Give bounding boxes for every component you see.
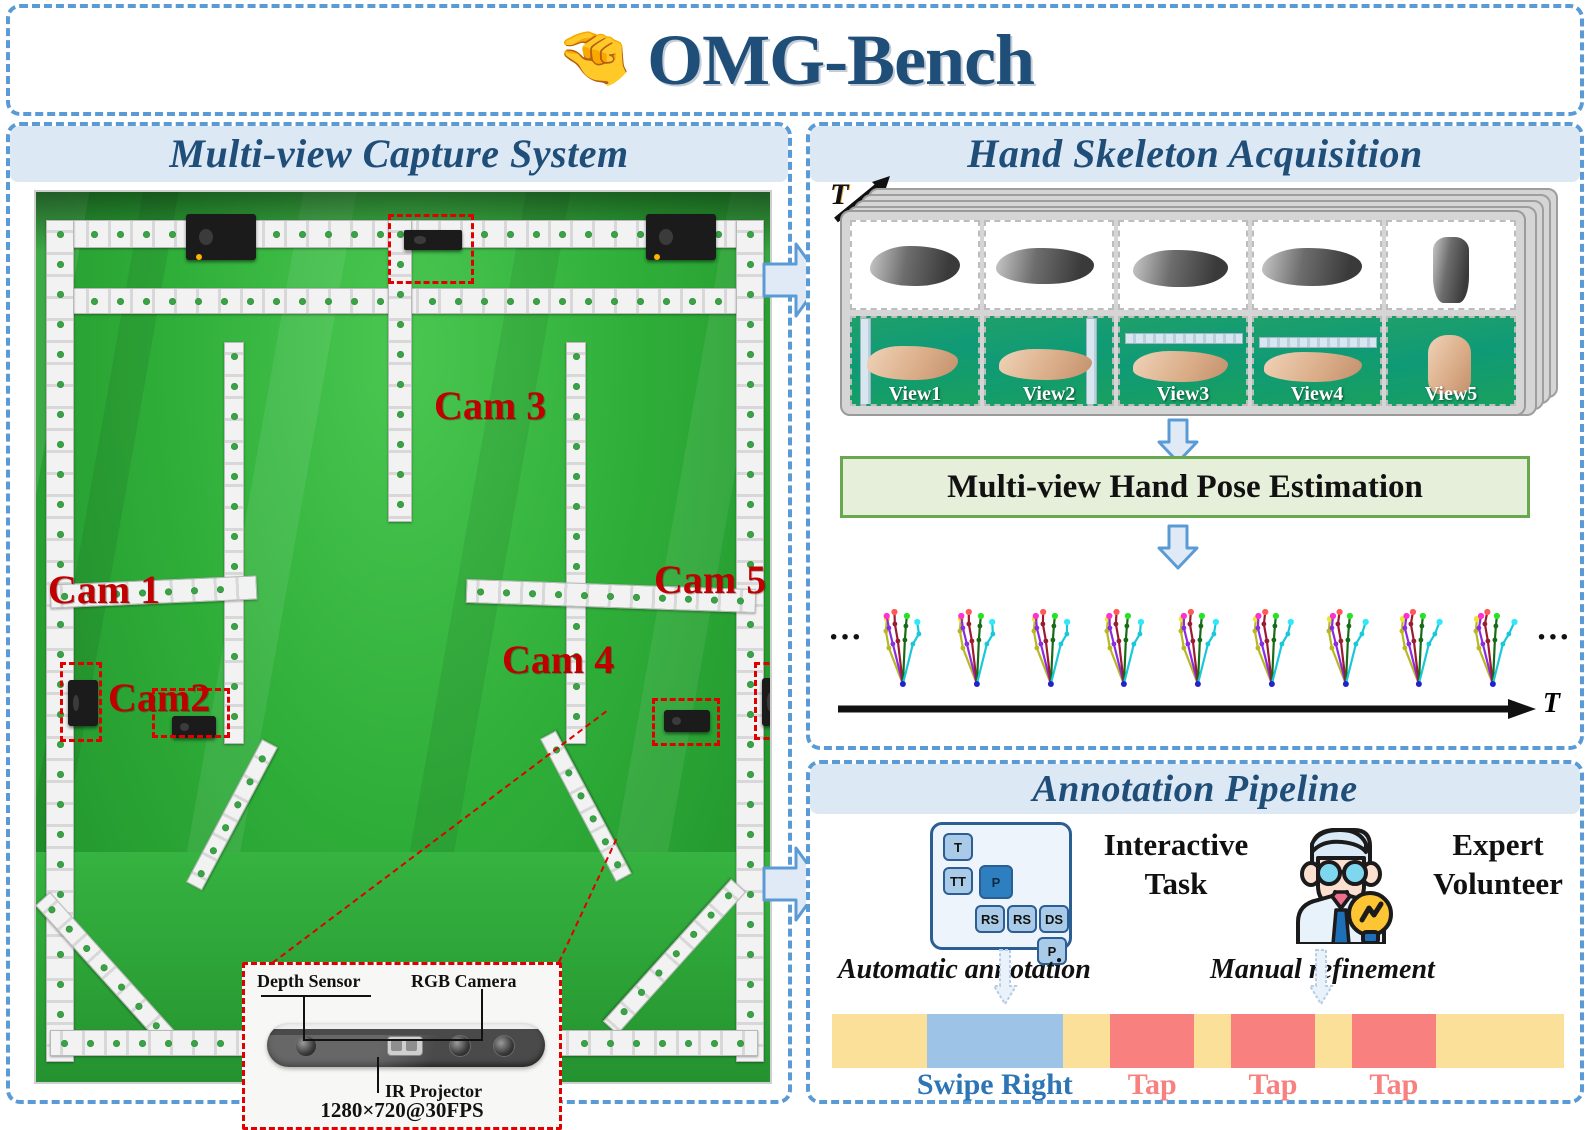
timeline-labels: Swipe RightTapTapTap <box>832 1068 1564 1106</box>
rail-hole <box>247 298 254 305</box>
view-label: View2 <box>986 383 1112 406</box>
rail-hole <box>91 231 98 238</box>
rail-hole <box>633 1040 640 1047</box>
capture-rig-photo <box>34 190 772 1084</box>
rail-hole <box>231 443 238 450</box>
rail-hole <box>57 471 64 478</box>
skeleton-panel-title: Hand Skeleton Acquisition <box>810 126 1580 182</box>
rail-hole <box>737 1040 744 1047</box>
rail-hole <box>637 231 644 238</box>
page-title: OMG-Bench <box>647 19 1034 102</box>
rail-hole <box>195 298 202 305</box>
pose-estimation-label: Multi-view Hand Pose Estimation <box>947 469 1423 506</box>
view-label: View5 <box>1388 383 1514 406</box>
rail-hole <box>325 231 332 238</box>
depth-frame-1 <box>850 220 980 310</box>
hand-silhouette <box>867 346 958 380</box>
cam-label-4: Cam 4 <box>502 636 614 683</box>
rail-hole <box>747 531 754 538</box>
rail-hole <box>196 869 205 878</box>
rail-hole <box>620 1007 630 1017</box>
rail-hole <box>117 231 124 238</box>
rail-hole <box>573 353 580 360</box>
rail-hole <box>559 298 566 305</box>
rail-hole <box>57 951 64 958</box>
multi-view-capture-panel: Multi-view Capture System <box>6 122 792 1104</box>
rail-hole <box>611 298 618 305</box>
depth-frame-2 <box>984 220 1114 310</box>
resolution-label: 1280×720@30FPS <box>245 1098 559 1123</box>
rail-hole <box>134 1001 144 1011</box>
rail-hole <box>612 860 621 869</box>
depth-frame-row <box>850 220 1516 313</box>
rail-hole <box>715 231 722 238</box>
rail-hole <box>747 621 754 628</box>
view-label: View4 <box>1254 383 1380 406</box>
leader-rgb-vertical <box>481 989 483 1041</box>
hand-skeleton-frame <box>1016 586 1088 690</box>
expert-line2: Volunteer <box>1410 865 1586 904</box>
view-label: View3 <box>1120 383 1246 406</box>
depth-blob <box>1133 250 1229 288</box>
brand-header-panel: 🤏 OMG-Bench <box>6 4 1584 116</box>
right-inner-post <box>566 342 586 744</box>
rail-hole <box>747 1011 754 1018</box>
sequence-right-ellipsis: ··· <box>1532 621 1574 655</box>
expert-line1: Expert <box>1410 826 1586 865</box>
rail-hole <box>191 1040 198 1047</box>
interactive-task-line1: Interactive <box>1086 826 1266 865</box>
rail-hole <box>573 683 580 690</box>
depth-frame-4 <box>1252 220 1382 310</box>
right-post <box>736 220 764 1062</box>
rail-hole <box>747 261 754 268</box>
rail-hole <box>57 351 64 358</box>
rail-hole <box>165 1040 172 1047</box>
rail-hole <box>573 383 580 390</box>
rail-hole <box>573 533 580 540</box>
rail-hole <box>576 791 585 800</box>
timeline-segment-idle[interactable] <box>1436 1014 1564 1068</box>
task-chip-ds: DS <box>1039 905 1069 933</box>
rail-hole <box>747 981 754 988</box>
rail-hole <box>143 298 150 305</box>
capture-panel-title: Multi-view Capture System <box>10 126 788 182</box>
roi-cam5 <box>754 662 772 740</box>
rig-rail-mini <box>1125 333 1243 344</box>
rail-hole <box>747 651 754 658</box>
rail-hole <box>325 298 332 305</box>
timeline-segment-label: Tap <box>1369 1068 1418 1102</box>
rail-hole <box>221 298 228 305</box>
rail-hole <box>507 298 514 305</box>
depth-blob <box>996 248 1094 284</box>
rail-hole <box>233 800 242 809</box>
rail-hole <box>57 621 64 628</box>
roi-cam4 <box>652 698 720 746</box>
rail-hole <box>588 814 597 823</box>
rail-hole <box>747 411 754 418</box>
rail-hole <box>477 588 484 595</box>
rail-hole <box>351 231 358 238</box>
rail-hole <box>573 503 580 510</box>
rail-hole <box>217 1040 224 1047</box>
rail-hole <box>57 231 64 238</box>
rail-hole <box>747 711 754 718</box>
rail-hole <box>747 471 754 478</box>
rail-hole <box>139 1040 146 1047</box>
rgb-frame-5: View5 <box>1386 316 1516 406</box>
expert-volunteer-icon <box>1278 816 1400 944</box>
roi-cam3 <box>388 214 474 284</box>
rail-hole <box>747 231 754 238</box>
rail-hole <box>273 231 280 238</box>
rail-hole <box>585 231 592 238</box>
rail-hole <box>57 741 64 748</box>
rail-hole <box>377 231 384 238</box>
hand-skeleton-frame <box>1311 586 1383 690</box>
rail-hole <box>397 321 404 328</box>
rail-hole <box>507 231 514 238</box>
depth-camera-callout: Depth Sensor RGB Camera IR Projector 128… <box>242 962 562 1130</box>
rail-hole <box>152 1020 162 1030</box>
interactive-task-card: T TT P RS RS DS P <box>930 822 1072 950</box>
rgb-frame-3: View3 <box>1118 316 1248 406</box>
hand-silhouette <box>1264 352 1362 381</box>
rail-hole <box>711 1040 718 1047</box>
timeline-segment-label: Tap <box>1249 1068 1298 1102</box>
view-label: View1 <box>852 383 978 406</box>
rail-hole <box>573 413 580 420</box>
camera-indicator-right <box>654 254 660 260</box>
cam-label-1: Cam 1 <box>48 566 160 613</box>
rail-hole <box>87 1040 94 1047</box>
rail-hole <box>481 298 488 305</box>
camera-top-left <box>186 214 256 260</box>
timeline-segment-idle[interactable] <box>1063 1014 1111 1068</box>
rail-hole <box>607 592 614 599</box>
sequence-time-axis: T <box>838 698 1558 724</box>
rail-hole <box>455 298 462 305</box>
rail-hole <box>57 291 64 298</box>
rail-hole <box>57 861 64 868</box>
rail-hole <box>747 861 754 868</box>
rig-rail-mini <box>1259 337 1377 348</box>
realsense-device <box>267 1023 545 1067</box>
interactive-task-label: Interactive Task <box>1086 826 1266 904</box>
leader-depth-vertical <box>303 995 305 1041</box>
rail-hole <box>208 846 217 855</box>
rail-hole <box>564 768 573 777</box>
rail-hole <box>57 441 64 448</box>
cam-label-2: Cam2 <box>108 674 210 721</box>
rail-hole <box>231 713 238 720</box>
rail-hole <box>57 651 64 658</box>
rail-hole <box>57 1011 64 1018</box>
rail-hole <box>607 1040 614 1047</box>
rail-hole <box>533 298 540 305</box>
hand-skeleton-sequence: ··· ··· <box>824 582 1574 694</box>
hand-skeleton-frame <box>1458 586 1530 690</box>
rail-hole <box>100 962 110 972</box>
timeline-segment-labeled[interactable] <box>1231 1014 1315 1068</box>
rail-hole <box>231 563 238 570</box>
task-chip-rs-1: RS <box>975 905 1005 933</box>
rail-hole <box>481 231 488 238</box>
rail-hole <box>165 588 172 595</box>
sequence-left-ellipsis: ··· <box>824 621 866 655</box>
rail-hole <box>672 949 682 959</box>
rail-hole <box>61 1040 68 1047</box>
timeline-segment-labeled[interactable] <box>927 1014 1062 1068</box>
arrow-pose-to-sequence <box>1156 524 1200 570</box>
frame-grid: View1 View2 View3 View4 <box>840 210 1526 416</box>
rgb-camera-label: RGB Camera <box>411 971 516 992</box>
task-chip-t: T <box>943 833 973 861</box>
hand-skeleton-frame <box>942 586 1014 690</box>
depth-sensor-label: Depth Sensor <box>257 971 361 992</box>
depth-frame-5 <box>1386 220 1516 310</box>
rail-hole <box>299 298 306 305</box>
rail-hole <box>747 321 754 328</box>
rail-hole <box>573 443 580 450</box>
rail-hole <box>724 891 734 901</box>
rail-hole <box>663 298 670 305</box>
rail-hole <box>57 831 64 838</box>
rail-hole <box>299 231 306 238</box>
rail-hole <box>57 411 64 418</box>
rail-hole <box>747 951 754 958</box>
rail-hole <box>231 533 238 540</box>
rail-hole <box>117 298 124 305</box>
leader-rgb-horizontal <box>391 1039 483 1041</box>
rail-hole <box>529 590 536 597</box>
rail-hole <box>747 801 754 808</box>
rail-hole <box>397 291 404 298</box>
rail-hole <box>57 501 64 508</box>
rail-hole <box>689 298 696 305</box>
rail-hole <box>559 231 566 238</box>
rail-hole <box>747 291 754 298</box>
rail-hole <box>397 351 404 358</box>
rail-hole <box>143 231 150 238</box>
depth-blob <box>1433 237 1468 302</box>
annotation-panel-title: Annotation Pipeline <box>810 764 1580 814</box>
rail-hole <box>397 471 404 478</box>
rail-hole <box>747 741 754 748</box>
task-chip-tt: TT <box>943 867 973 895</box>
rail-hole <box>169 298 176 305</box>
rail-hole <box>585 298 592 305</box>
rail-hole <box>715 298 722 305</box>
rail-hole <box>220 823 229 832</box>
annotation-timeline[interactable] <box>832 1014 1564 1068</box>
task-chip-p-active: P <box>979 865 1013 899</box>
rail-hole <box>747 381 754 388</box>
rail-hole <box>57 381 64 388</box>
rail-hole <box>57 891 64 898</box>
camera-indicator-left <box>196 254 202 260</box>
timeline-segment-labeled[interactable] <box>1110 1014 1194 1068</box>
rail-hole <box>689 930 699 940</box>
rail-hole <box>397 411 404 418</box>
rail-hole <box>397 381 404 388</box>
rail-hole <box>397 441 404 448</box>
rail-hole <box>273 298 280 305</box>
pose-estimation-box: Multi-view Hand Pose Estimation <box>840 456 1530 518</box>
rail-hole <box>217 585 224 592</box>
task-chip-rs-2: RS <box>1007 905 1037 933</box>
rail-hole <box>231 413 238 420</box>
rail-hole <box>747 891 754 898</box>
arrow-manual-to-timeline <box>1308 948 1334 1002</box>
rail-hole <box>91 298 98 305</box>
rgb-frame-row: View1 View2 View3 View4 <box>850 313 1516 406</box>
depth-blob <box>870 246 961 286</box>
rail-hole <box>600 837 609 846</box>
leader-depth-underline <box>261 995 371 997</box>
rail-hole <box>47 905 57 915</box>
rail-hole <box>57 981 64 988</box>
multi-view-frame-stack: View1 View2 View3 View4 <box>840 188 1554 418</box>
hand-skeleton-frame <box>868 586 940 690</box>
annotation-pipeline-panel: Annotation Pipeline T TT P RS RS DS P In… <box>806 760 1584 1104</box>
rail-hole <box>245 777 254 786</box>
rail-hole <box>581 1040 588 1047</box>
rail-hole <box>637 298 644 305</box>
rail-hole <box>231 353 238 360</box>
hand-skeleton-frame <box>1384 586 1456 690</box>
rail-hole <box>257 754 266 763</box>
timeline-segment-idle[interactable] <box>832 1014 927 1068</box>
rail-hole <box>573 713 580 720</box>
roi-cam1 <box>60 662 102 742</box>
expert-volunteer-label: Expert Volunteer <box>1410 826 1586 904</box>
hand-skeleton-panel: Hand Skeleton Acquisition T <box>806 122 1584 750</box>
hand-skeleton-frame <box>1163 586 1235 690</box>
rail-hole <box>659 1040 666 1047</box>
rgb-frame-2: View2 <box>984 316 1114 406</box>
rail-hole <box>113 1040 120 1047</box>
rail-hole <box>231 473 238 480</box>
rail-hole <box>169 231 176 238</box>
depth-frame-3 <box>1118 220 1248 310</box>
rail-hole <box>377 298 384 305</box>
timeline-segment-idle[interactable] <box>1315 1014 1352 1068</box>
rail-hole <box>685 1040 692 1047</box>
rail-hole <box>747 681 754 688</box>
depth-blob <box>1262 248 1363 286</box>
hand-skeleton-frame <box>1089 586 1161 690</box>
rail-hole <box>231 503 238 510</box>
rail-hole <box>611 231 618 238</box>
rail-hole <box>191 587 198 594</box>
cam-label-3: Cam 3 <box>434 382 546 429</box>
rail-hole <box>397 501 404 508</box>
rail-hole <box>747 921 754 928</box>
rail-hole <box>637 988 647 998</box>
pinching-hand-icon: 🤏 <box>556 27 633 89</box>
rail-hole <box>231 623 238 630</box>
sequence-axis-label: T <box>1543 688 1560 720</box>
rail-hole <box>573 563 580 570</box>
rail-hole <box>65 924 75 934</box>
leader-ir-vertical <box>377 1057 379 1093</box>
rail-hole <box>57 261 64 268</box>
timeline-segment-idle[interactable] <box>1194 1014 1231 1068</box>
rail-hole <box>747 771 754 778</box>
hand-silhouette <box>999 349 1092 380</box>
rail-hole <box>231 683 238 690</box>
rail-hole <box>351 298 358 305</box>
hand-silhouette <box>1133 351 1229 382</box>
timeline-segment-label: Tap <box>1128 1068 1177 1102</box>
rail-hole <box>503 589 510 596</box>
rgb-frame-1: View1 <box>850 316 980 406</box>
rail-hole <box>633 593 640 600</box>
rail-hole <box>231 653 238 660</box>
interactive-task-line2: Task <box>1086 865 1266 904</box>
hand-skeleton-frame <box>1237 586 1309 690</box>
rgb-lens <box>493 1035 515 1057</box>
rail-hole <box>429 298 436 305</box>
rail-hole <box>707 910 717 920</box>
automatic-annotation-label: Automatic annotation <box>838 954 1091 986</box>
rail-hole <box>57 771 64 778</box>
rail-hole <box>654 968 664 978</box>
rail-hole <box>82 943 92 953</box>
rail-hole <box>573 473 580 480</box>
timeline-segment-label: Swipe Right <box>917 1068 1073 1102</box>
rail-hole <box>747 351 754 358</box>
timeline-segment-labeled[interactable] <box>1352 1014 1436 1068</box>
rail-hole <box>573 623 580 630</box>
rail-hole <box>581 591 588 598</box>
rail-hole <box>747 831 754 838</box>
rail-hole <box>57 321 64 328</box>
rgb-frame-4: View4 <box>1252 316 1382 406</box>
left-inner-post <box>224 342 244 744</box>
rail-hole <box>57 801 64 808</box>
rail-hole <box>747 501 754 508</box>
cam-label-5: Cam 5 <box>654 556 766 603</box>
rail-hole <box>117 982 127 992</box>
rail-hole <box>57 531 64 538</box>
arrow-automatic-to-timeline <box>992 948 1018 1002</box>
rail-hole <box>533 231 540 238</box>
rail-hole <box>555 591 562 598</box>
rail-hole <box>231 383 238 390</box>
rail-hole <box>747 441 754 448</box>
leader-depth-horizontal <box>303 1039 391 1041</box>
